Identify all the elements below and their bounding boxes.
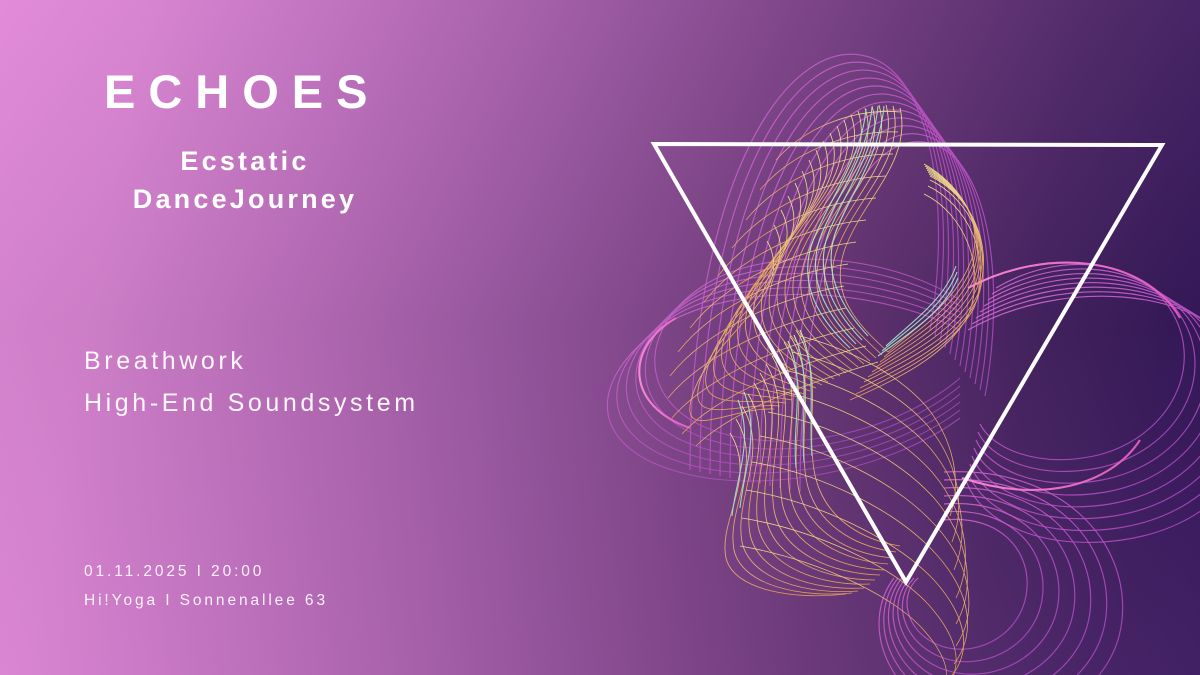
feature-item-soundsystem: High-End Soundsystem — [84, 382, 419, 424]
pink-accent-strokes — [639, 263, 1180, 490]
feature-item-breathwork: Breathwork — [84, 340, 419, 382]
features-list: Breathwork High-End Soundsystem — [84, 340, 419, 424]
mint-ribbon-highlights — [732, 106, 958, 516]
subtitle-line-2: DanceJourney — [60, 180, 430, 218]
magenta-arc-family-upper — [690, 54, 994, 492]
event-flyer: ECHOES Ecstatic DanceJourney Breathwork … — [0, 0, 1200, 675]
warm-mesh-upper-vertical — [690, 105, 902, 421]
warm-mesh-lower-rings — [740, 336, 969, 675]
subtitle-block: Ecstatic DanceJourney — [60, 142, 430, 219]
magenta-arc-family-left — [607, 259, 960, 481]
inverted-triangle-outline — [654, 144, 1162, 582]
event-details: 01.11.2025 I 20:00 Hi!Yoga I Sonnenallee… — [84, 558, 328, 615]
magenta-loop-family-right — [966, 264, 1200, 542]
text-column: ECHOES Ecstatic DanceJourney Breathwork … — [0, 0, 560, 675]
event-venue: Hi!Yoga I Sonnenallee 63 — [84, 587, 328, 616]
warm-mesh-upper-rings — [668, 111, 900, 446]
warm-mesh-mid-vertical — [850, 164, 984, 400]
page-title: ECHOES — [104, 68, 381, 115]
subtitle-line-1: Ecstatic — [60, 142, 430, 180]
warm-mesh-lower-vertical — [725, 330, 900, 596]
event-datetime: 01.11.2025 I 20:00 — [84, 558, 328, 587]
magenta-spiral-lower — [879, 472, 1123, 675]
